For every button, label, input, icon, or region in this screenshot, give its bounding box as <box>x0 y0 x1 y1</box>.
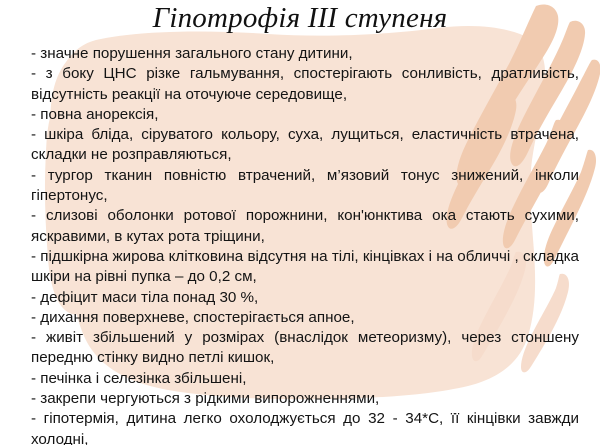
list-item: - печінка і селезінка збільшені, <box>31 369 579 389</box>
list-item: - тургор тканин повністю втрачений, м’яз… <box>31 166 579 207</box>
list-item: - живіт збільшений у розмірах (внаслідок… <box>31 328 579 369</box>
list-item: - значне порушення загального стану дити… <box>31 44 579 64</box>
list-item: - повна анорексія, <box>31 105 579 125</box>
list-item: - дихання поверхневе, спостерігається ап… <box>31 308 579 328</box>
page-title: Гіпотрофія III ступеня <box>0 1 600 35</box>
presentation-slide: Гіпотрофія III ступеня - значне порушенн… <box>0 0 600 445</box>
list-item: - слизові оболонки ротової порожнини, ко… <box>31 206 579 247</box>
list-item: - шкіра бліда, сіруватого кольору, суха,… <box>31 125 579 166</box>
list-item: - дефіцит маси тіла понад 30 %, <box>31 288 579 308</box>
list-item: - гіпотермія, дитина легко охолоджується… <box>31 409 579 445</box>
list-item: - закрепи чергуються з рідкими випорожне… <box>31 389 579 409</box>
bullet-list: - значне порушення загального стану дити… <box>31 44 579 445</box>
list-item: - підшкірна жирова клітковина відсутня н… <box>31 247 579 288</box>
list-item: - з боку ЦНС різке гальмування, спостері… <box>31 64 579 105</box>
